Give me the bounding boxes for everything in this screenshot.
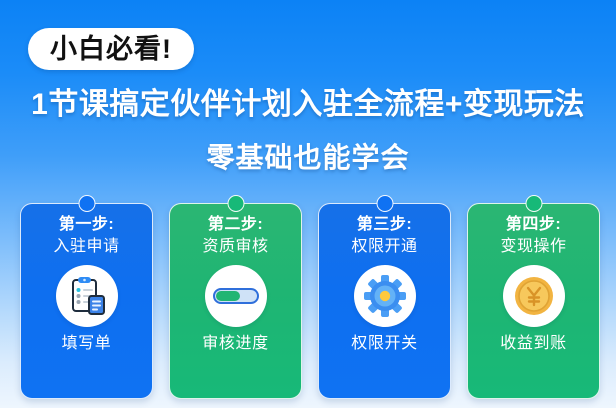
step-card-1-footer: 填写单	[62, 336, 112, 352]
step-marker-dot-icon	[78, 195, 95, 212]
step-marker-dot-icon	[227, 195, 244, 212]
yen-coin-icon	[512, 274, 556, 318]
progress-bar-icon	[211, 273, 261, 319]
step-card-2-title: 第二步:	[208, 215, 263, 235]
step-card-3-footer: 权限开关	[351, 336, 417, 352]
step-card-4-subtitle: 变现操作	[500, 237, 566, 257]
step-card-2-footer: 审核进度	[202, 336, 268, 352]
step-card-3[interactable]: 第三步: 权限开通	[318, 203, 451, 399]
step-card-3-title: 第三步:	[357, 215, 412, 235]
step-card-4[interactable]: 第四步: 变现操作	[467, 203, 600, 399]
page-subtitle: 零基础也能学会	[0, 143, 616, 174]
step-card-1-title: 第一步:	[59, 215, 114, 235]
step-card-2-subtitle: 资质审核	[202, 237, 268, 257]
step-card-1[interactable]: 第一步: 入驻申请	[20, 203, 153, 399]
step-marker-dot-icon	[525, 195, 542, 212]
promo-poster: 小白必看! 1节课搞定伙伴计划入驻全流程+变现玩法 零基础也能学会 第一步: 入…	[0, 0, 616, 408]
step-card-1-subtitle: 入驻申请	[53, 237, 119, 257]
highlight-badge-label: 小白必看!	[50, 36, 172, 63]
highlight-badge: 小白必看!	[28, 28, 194, 70]
step-card-3-icon-wrap	[354, 265, 416, 327]
steps-row: 第一步: 入驻申请	[20, 203, 600, 399]
step-card-1-icon-wrap	[56, 265, 118, 327]
step-marker-dot-icon	[376, 195, 393, 212]
step-card-4-icon-wrap	[503, 265, 565, 327]
page-title: 1节课搞定伙伴计划入驻全流程+变现玩法	[0, 88, 616, 121]
step-card-2-icon-wrap	[205, 265, 267, 327]
step-card-4-title: 第四步:	[506, 215, 561, 235]
step-card-2[interactable]: 第二步: 资质审核 审核进度	[169, 203, 302, 399]
step-card-3-subtitle: 权限开通	[351, 237, 417, 257]
clipboard-checklist-icon	[64, 273, 110, 319]
gear-icon	[362, 273, 408, 319]
step-card-4-footer: 收益到账	[500, 336, 566, 352]
